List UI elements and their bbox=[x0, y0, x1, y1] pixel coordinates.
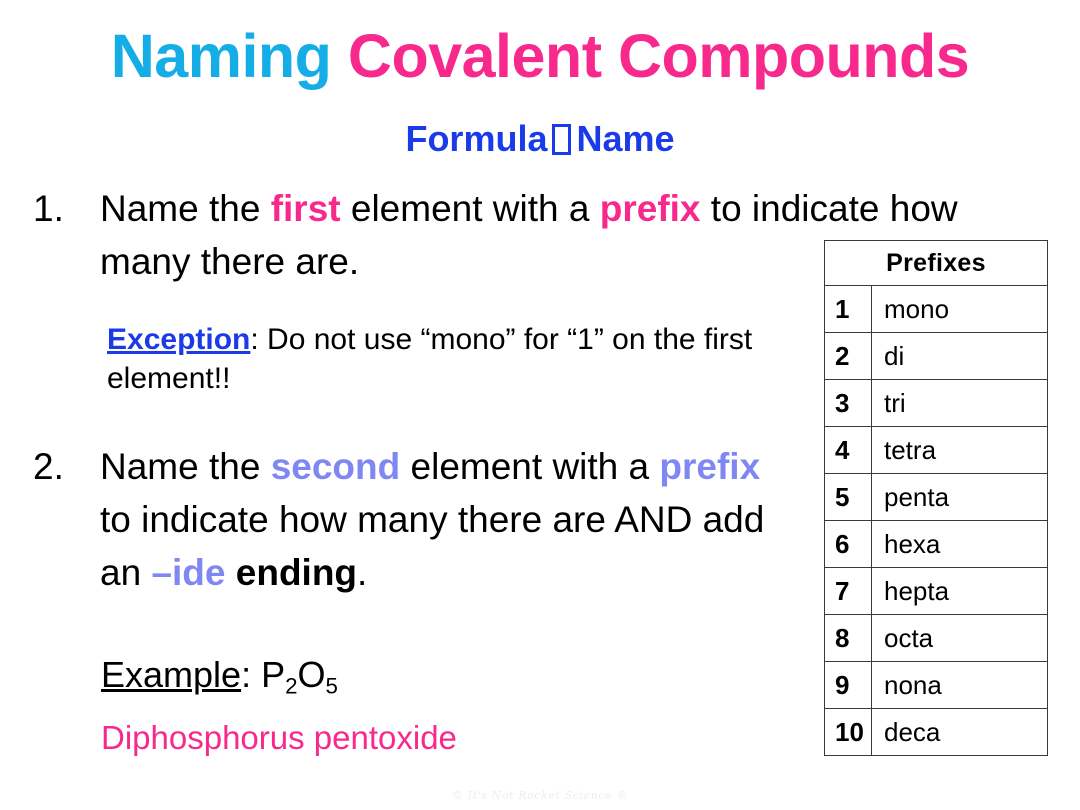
list-item-number: 1. bbox=[33, 182, 89, 235]
prefixes-table-head: Prefixes bbox=[825, 241, 1048, 286]
step2-seg-8: . bbox=[357, 552, 367, 593]
missing-glyph-box-icon bbox=[552, 124, 571, 155]
example-formula: P2O5 bbox=[261, 654, 338, 695]
prefix-number-cell: 6 bbox=[825, 521, 872, 568]
prefix-number-cell: 4 bbox=[825, 427, 872, 474]
formula-subscript-5: 5 bbox=[326, 674, 338, 699]
list-item-text: Name the second element with a prefix to… bbox=[100, 440, 793, 599]
prefix-number-cell: 9 bbox=[825, 662, 872, 709]
step2-seg-2: element with a bbox=[400, 446, 659, 487]
slide-canvas: Naming Covalent Compounds FormulaName 1.… bbox=[0, 0, 1080, 810]
watermark: © It's Not Rocket Science ® bbox=[0, 789, 1080, 802]
prefixes-table-body: 1mono2di3tri4tetra5penta6hexa7hepta8octa… bbox=[825, 286, 1048, 756]
table-row: 9nona bbox=[825, 662, 1048, 709]
table-row: 2di bbox=[825, 333, 1048, 380]
prefix-name-cell: tetra bbox=[872, 427, 1048, 474]
prefixes-table: Prefixes 1mono2di3tri4tetra5penta6hexa7h… bbox=[824, 240, 1048, 756]
title-part-naming: Naming bbox=[111, 22, 332, 90]
example-label: Example bbox=[101, 654, 241, 695]
table-row: 7hepta bbox=[825, 568, 1048, 615]
step2-seg-ide: –ide bbox=[151, 552, 225, 593]
step2-seg-ending: ending bbox=[236, 552, 357, 593]
table-row: 1mono bbox=[825, 286, 1048, 333]
example-answer: Diphosphorus pentoxide bbox=[101, 717, 801, 759]
title-part-covalent-compounds: Covalent Compounds bbox=[348, 22, 969, 90]
table-row: 10deca bbox=[825, 709, 1048, 756]
step1-seg-2: element with a bbox=[341, 188, 600, 229]
prefix-number-cell: 10 bbox=[825, 709, 872, 756]
prefix-name-cell: di bbox=[872, 333, 1048, 380]
prefix-name-cell: mono bbox=[872, 286, 1048, 333]
table-row: 4tetra bbox=[825, 427, 1048, 474]
table-row: 6hexa bbox=[825, 521, 1048, 568]
table-row: 8octa bbox=[825, 615, 1048, 662]
list-item: 2. Name the second element with a prefix… bbox=[33, 440, 793, 599]
step1-seg-0: Name the bbox=[100, 188, 271, 229]
example-separator: : bbox=[241, 654, 261, 695]
prefix-number-cell: 8 bbox=[825, 615, 872, 662]
prefixes-table-title: Prefixes bbox=[825, 241, 1048, 286]
subtitle-name-label: Name bbox=[576, 118, 674, 159]
formula-symbol-p: P bbox=[261, 654, 285, 695]
subtitle-formula-label: Formula bbox=[405, 118, 547, 159]
formula-symbol-o: O bbox=[298, 654, 326, 695]
prefix-number-cell: 2 bbox=[825, 333, 872, 380]
step2-seg-second: second bbox=[271, 446, 401, 487]
prefix-number-cell: 1 bbox=[825, 286, 872, 333]
prefix-name-cell: hexa bbox=[872, 521, 1048, 568]
table-row: 3tri bbox=[825, 380, 1048, 427]
step1-seg-first: first bbox=[271, 188, 341, 229]
prefix-name-cell: hepta bbox=[872, 568, 1048, 615]
prefix-number-cell: 7 bbox=[825, 568, 872, 615]
step2-seg-0: Name the bbox=[100, 446, 271, 487]
prefix-number-cell: 3 bbox=[825, 380, 872, 427]
prefix-name-cell: tri bbox=[872, 380, 1048, 427]
prefix-number-cell: 5 bbox=[825, 474, 872, 521]
exception-label: Exception bbox=[107, 323, 250, 356]
formula-subscript-2: 2 bbox=[285, 674, 297, 699]
prefix-name-cell: octa bbox=[872, 615, 1048, 662]
step1-seg-prefix: prefix bbox=[600, 188, 701, 229]
table-row: 5penta bbox=[825, 474, 1048, 521]
prefix-name-cell: nona bbox=[872, 662, 1048, 709]
prefix-name-cell: deca bbox=[872, 709, 1048, 756]
page-subtitle: FormulaName bbox=[0, 118, 1080, 159]
list-item-number: 2. bbox=[33, 440, 89, 493]
step2-seg-prefix: prefix bbox=[659, 446, 760, 487]
example-block: Example: P2O5 bbox=[101, 652, 801, 710]
prefix-name-cell: penta bbox=[872, 474, 1048, 521]
page-title: Naming Covalent Compounds bbox=[0, 24, 1080, 90]
table-header-row: Prefixes bbox=[825, 241, 1048, 286]
exception-note: Exception: Do not use “mono” for “1” on … bbox=[107, 320, 807, 398]
step2-seg-6 bbox=[225, 552, 235, 593]
